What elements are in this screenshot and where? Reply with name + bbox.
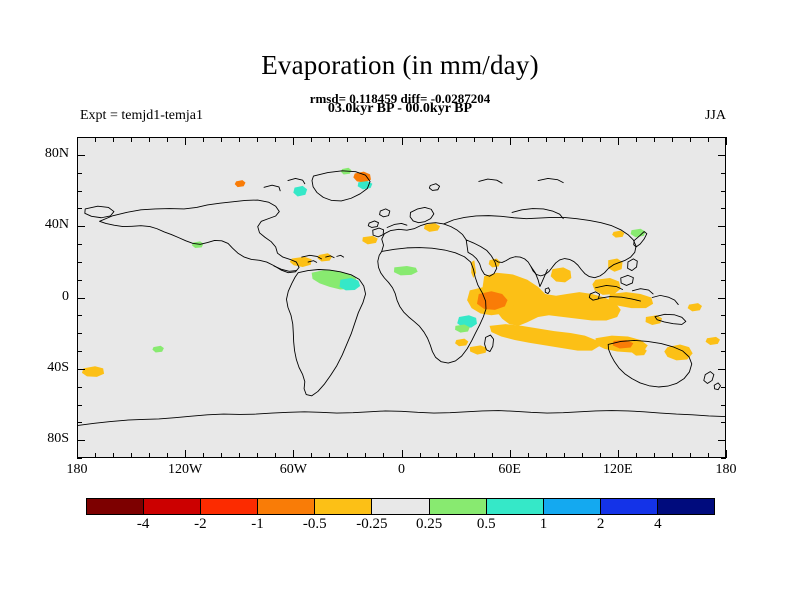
world-map [78, 138, 725, 457]
colorbar-tick-label: 2 [571, 516, 631, 533]
y-major-tick [77, 155, 85, 156]
x-minor-tick [221, 137, 222, 142]
x-axis-label: 120E [578, 462, 658, 478]
x-minor-tick [203, 453, 204, 458]
x-minor-tick [474, 453, 475, 458]
x-minor-tick [131, 137, 132, 142]
colorbar-cell-1 [143, 499, 200, 514]
x-minor-tick [95, 137, 96, 142]
colorbar-cell-5 [371, 499, 428, 514]
colorbar-tick-label: 0.5 [456, 516, 516, 533]
x-minor-tick [311, 137, 312, 142]
colorbar-tick-label: -2 [170, 516, 230, 533]
x-minor-tick [546, 137, 547, 142]
x-minor-tick [131, 453, 132, 458]
x-minor-tick [239, 137, 240, 142]
x-major-tick [510, 450, 511, 458]
y-minor-tick [77, 422, 82, 423]
x-major-tick [618, 450, 619, 458]
y-major-tick [77, 226, 85, 227]
y-axis-label: 80N [9, 146, 69, 162]
x-major-tick [402, 450, 403, 458]
x-minor-tick [600, 453, 601, 458]
x-minor-tick [654, 453, 655, 458]
x-minor-tick [600, 137, 601, 142]
y-minor-tick [77, 333, 82, 334]
x-minor-tick [528, 137, 529, 142]
x-minor-tick [690, 453, 691, 458]
x-minor-tick [275, 137, 276, 142]
x-minor-tick [311, 453, 312, 458]
x-minor-tick [474, 137, 475, 142]
y-minor-tick [721, 191, 726, 192]
x-major-tick [185, 137, 186, 145]
colorbar-tick-label: -4 [113, 516, 173, 533]
y-major-tick [718, 440, 726, 441]
x-major-tick [726, 450, 727, 458]
x-minor-tick [149, 453, 150, 458]
x-major-tick [293, 450, 294, 458]
x-minor-tick [365, 137, 366, 142]
y-axis-label: 40S [9, 360, 69, 376]
x-major-tick [77, 137, 78, 145]
y-minor-tick [77, 280, 82, 281]
x-minor-tick [492, 137, 493, 142]
colorbar-tick-label: -1 [228, 516, 288, 533]
season-label: JJA [0, 108, 800, 124]
y-minor-tick [77, 244, 82, 245]
x-minor-tick [582, 453, 583, 458]
colorbar-cell-0 [87, 499, 143, 514]
anomaly-shading [82, 168, 720, 377]
x-minor-tick [383, 453, 384, 458]
coastlines [78, 171, 725, 426]
x-minor-tick [149, 137, 150, 142]
x-major-tick [510, 137, 511, 145]
x-minor-tick [456, 453, 457, 458]
x-minor-tick [329, 453, 330, 458]
x-minor-tick [420, 137, 421, 142]
y-minor-tick [721, 333, 726, 334]
y-minor-tick [721, 173, 726, 174]
figure-canvas: Evaporation (in mm/day) rmsd= 0.118459 d… [0, 0, 800, 600]
y-major-tick [77, 440, 85, 441]
x-minor-tick [420, 453, 421, 458]
y-minor-tick [721, 244, 726, 245]
y-axis-label: 40N [9, 217, 69, 233]
x-minor-tick [672, 137, 673, 142]
colorbar-cell-3 [257, 499, 314, 514]
x-axis-label: 0 [362, 462, 442, 478]
x-axis-label: 180 [686, 462, 766, 478]
x-minor-tick [347, 453, 348, 458]
y-minor-tick [721, 315, 726, 316]
y-minor-tick [77, 262, 82, 263]
y-minor-tick [721, 208, 726, 209]
y-minor-tick [721, 405, 726, 406]
x-axis-label: 60E [470, 462, 550, 478]
x-minor-tick [95, 453, 96, 458]
colorbar-tick-label: -0.5 [285, 516, 345, 533]
x-minor-tick [546, 453, 547, 458]
y-minor-tick [77, 173, 82, 174]
y-major-tick [718, 369, 726, 370]
x-minor-tick [167, 453, 168, 458]
y-axis-label: 0 [9, 289, 69, 305]
colorbar-cell-7 [486, 499, 543, 514]
y-minor-tick [77, 405, 82, 406]
x-major-tick [618, 137, 619, 145]
y-minor-tick [721, 280, 726, 281]
map-plot-area [77, 137, 726, 458]
y-minor-tick [721, 351, 726, 352]
colorbar-cell-9 [600, 499, 657, 514]
x-minor-tick [257, 453, 258, 458]
colorbar-cell-6 [429, 499, 486, 514]
x-minor-tick [636, 137, 637, 142]
x-axis-label: 120W [145, 462, 225, 478]
x-minor-tick [383, 137, 384, 142]
x-minor-tick [347, 137, 348, 142]
colorbar-tick-label: 4 [628, 516, 688, 533]
x-minor-tick [456, 137, 457, 142]
page-title: Evaporation (in mm/day) [0, 50, 800, 81]
y-minor-tick [77, 387, 82, 388]
x-minor-tick [365, 453, 366, 458]
y-minor-tick [77, 351, 82, 352]
y-minor-tick [721, 458, 726, 459]
y-minor-tick [77, 191, 82, 192]
x-minor-tick [690, 137, 691, 142]
x-axis-label: 60W [253, 462, 333, 478]
y-major-tick [718, 298, 726, 299]
y-major-tick [77, 298, 85, 299]
x-minor-tick [528, 453, 529, 458]
y-minor-tick [721, 387, 726, 388]
x-minor-tick [329, 137, 330, 142]
x-minor-tick [582, 137, 583, 142]
y-minor-tick [721, 262, 726, 263]
y-axis-label: 80S [9, 431, 69, 447]
colorbar-cell-2 [200, 499, 257, 514]
colorbar-cell-4 [314, 499, 371, 514]
x-minor-tick [672, 453, 673, 458]
x-minor-tick [654, 137, 655, 142]
y-major-tick [718, 155, 726, 156]
y-minor-tick [77, 208, 82, 209]
y-minor-tick [77, 315, 82, 316]
x-minor-tick [221, 453, 222, 458]
colorbar-tick-label: 1 [513, 516, 573, 533]
x-major-tick [402, 137, 403, 145]
colorbar-tick-label: 0.25 [399, 516, 459, 533]
x-minor-tick [492, 453, 493, 458]
y-minor-tick [77, 458, 82, 459]
x-minor-tick [708, 453, 709, 458]
y-major-tick [718, 226, 726, 227]
x-minor-tick [203, 137, 204, 142]
x-minor-tick [708, 137, 709, 142]
x-major-tick [185, 450, 186, 458]
x-minor-tick [275, 453, 276, 458]
x-axis-label: 180 [37, 462, 117, 478]
x-minor-tick [438, 453, 439, 458]
x-minor-tick [113, 137, 114, 142]
x-minor-tick [113, 453, 114, 458]
x-minor-tick [564, 453, 565, 458]
x-major-tick [726, 137, 727, 145]
colorbar [86, 498, 715, 515]
x-minor-tick [636, 453, 637, 458]
x-minor-tick [239, 453, 240, 458]
y-major-tick [77, 369, 85, 370]
colorbar-cell-10 [657, 499, 714, 514]
x-minor-tick [564, 137, 565, 142]
x-major-tick [77, 450, 78, 458]
y-minor-tick [721, 422, 726, 423]
x-major-tick [293, 137, 294, 145]
colorbar-cell-8 [543, 499, 600, 514]
x-minor-tick [167, 137, 168, 142]
x-minor-tick [257, 137, 258, 142]
x-minor-tick [438, 137, 439, 142]
colorbar-tick-label: -0.25 [342, 516, 402, 533]
